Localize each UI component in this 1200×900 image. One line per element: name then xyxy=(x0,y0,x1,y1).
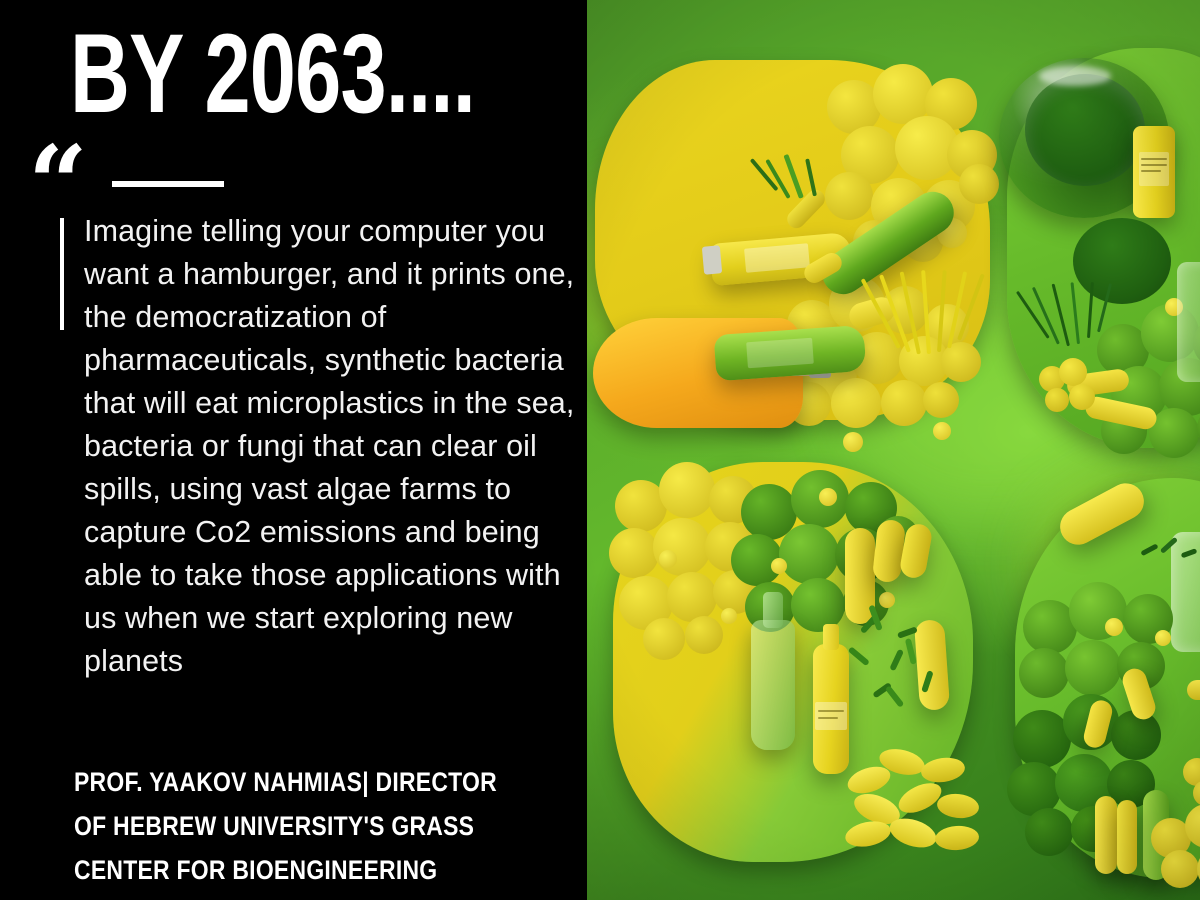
bottle-label-line xyxy=(818,710,844,712)
bottle-neck xyxy=(823,624,839,650)
quote-attribution: PROF. YAAKOV NAHMIAS| DIRECTOR OF HEBREW… xyxy=(74,760,499,892)
bottle-label xyxy=(746,338,814,369)
noodle-fan xyxy=(887,270,977,360)
text-panel: BY 2063.... “ Imagine telling your compu… xyxy=(0,0,587,900)
pellet xyxy=(771,558,787,574)
moss-cluster-yellow xyxy=(1147,800,1200,890)
quote-body-text: Imagine telling your computer you want a… xyxy=(84,210,580,683)
bottle-cap xyxy=(702,245,722,274)
pellet xyxy=(1105,618,1123,636)
bottle-neck xyxy=(763,592,783,628)
leaf-slivers xyxy=(1135,530,1200,570)
pellet xyxy=(1155,630,1171,646)
artwork-image xyxy=(587,0,1200,900)
dome-specular-highlight xyxy=(1039,66,1111,86)
bottle-glass-green xyxy=(751,620,795,750)
bottle-label xyxy=(815,702,847,730)
vial-label-line xyxy=(1141,170,1161,172)
pellet xyxy=(659,550,677,568)
banana-pile-yellow xyxy=(845,742,985,852)
quote-accent-bar xyxy=(60,218,64,330)
rod-yellow xyxy=(1095,796,1117,874)
page-title: BY 2063.... xyxy=(70,18,475,130)
vial-label-line xyxy=(1141,164,1167,166)
leaf-slivers xyxy=(769,150,839,210)
blockquote: Imagine telling your computer you want a… xyxy=(60,210,580,683)
rod-yellow xyxy=(1187,680,1200,700)
pellet xyxy=(843,432,863,452)
dome-rim xyxy=(1025,74,1145,186)
vial-label-line xyxy=(1141,158,1167,160)
glass-vessel xyxy=(1177,262,1200,382)
divider-rule xyxy=(112,181,224,187)
quote-ornament: “ xyxy=(28,132,288,202)
pellet xyxy=(819,488,837,506)
corn-cluster-yellow xyxy=(1039,358,1109,418)
pellet xyxy=(933,422,951,440)
corn-cluster-yellow xyxy=(1183,748,1200,808)
bean-scatter-green xyxy=(855,600,965,710)
slide-canvas: BY 2063.... “ Imagine telling your compu… xyxy=(0,0,1200,900)
rod-yellow xyxy=(1117,800,1137,874)
bottle-label-line xyxy=(818,717,838,719)
